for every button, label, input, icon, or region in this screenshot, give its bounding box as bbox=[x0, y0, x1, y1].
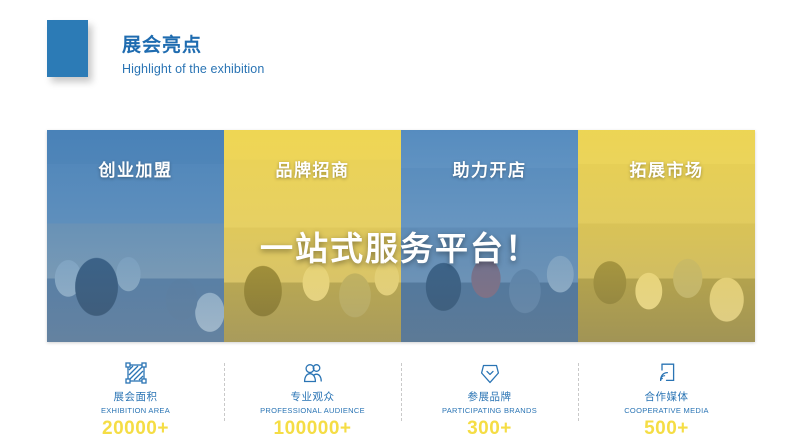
stat-cooperative-media: 合作媒体 COOPERATIVE MEDIA 500+ bbox=[578, 360, 755, 432]
stat-label-cn: 专业观众 bbox=[291, 389, 335, 404]
page-title-cn: 展会亮点 bbox=[122, 33, 264, 57]
participating-brands-icon bbox=[477, 360, 503, 386]
stat-label-en: COOPERATIVE MEDIA bbox=[624, 406, 709, 415]
page-title-en: Highlight of the exhibition bbox=[122, 60, 264, 78]
slide-root: 展会亮点 Highlight of the exhibition 创业加盟 品牌… bbox=[0, 0, 800, 448]
stat-participating-brands: 参展品牌 PARTICIPATING BRANDS 300+ bbox=[401, 360, 578, 432]
highlight-gallery: 创业加盟 品牌招商 助力开店 拓展市场 bbox=[47, 130, 755, 342]
stat-exhibition-area: 展会面积 EXHIBITION AREA 20000+ bbox=[47, 360, 224, 432]
stat-label-cn: 参展品牌 bbox=[468, 389, 512, 404]
gallery-panel-label: 拓展市场 bbox=[578, 156, 755, 181]
gallery-panel-2[interactable]: 品牌招商 bbox=[224, 130, 401, 342]
stat-label-cn: 展会面积 bbox=[114, 389, 158, 404]
gallery-panel-3[interactable]: 助力开店 bbox=[401, 130, 578, 342]
stat-value: 300+ bbox=[467, 418, 512, 440]
stat-value: 20000+ bbox=[102, 418, 169, 440]
gallery-panel-label: 助力开店 bbox=[401, 156, 578, 181]
stat-label-en: PARTICIPATING BRANDS bbox=[442, 406, 537, 415]
cooperative-media-icon bbox=[654, 360, 680, 386]
accent-bar-decoration bbox=[47, 20, 88, 77]
page-header: 展会亮点 Highlight of the exhibition bbox=[0, 0, 800, 110]
stat-label-cn: 合作媒体 bbox=[645, 389, 689, 404]
exhibition-area-icon bbox=[123, 360, 149, 386]
professional-audience-icon bbox=[300, 360, 326, 386]
stat-label-en: PROFESSIONAL AUDIENCE bbox=[260, 406, 365, 415]
gallery-panel-label: 创业加盟 bbox=[47, 156, 224, 181]
gallery-panel-label: 品牌招商 bbox=[224, 156, 401, 181]
stat-value: 100000+ bbox=[274, 418, 352, 440]
stats-row: 展会面积 EXHIBITION AREA 20000+ 专业观众 PROFESS… bbox=[47, 360, 755, 432]
stat-value: 500+ bbox=[644, 418, 689, 440]
stat-label-en: EXHIBITION AREA bbox=[101, 406, 170, 415]
page-title: 展会亮点 Highlight of the exhibition bbox=[122, 33, 264, 78]
gallery-panel-1[interactable]: 创业加盟 bbox=[47, 130, 224, 342]
stat-professional-audience: 专业观众 PROFESSIONAL AUDIENCE 100000+ bbox=[224, 360, 401, 432]
gallery-panel-4[interactable]: 拓展市场 bbox=[578, 130, 755, 342]
